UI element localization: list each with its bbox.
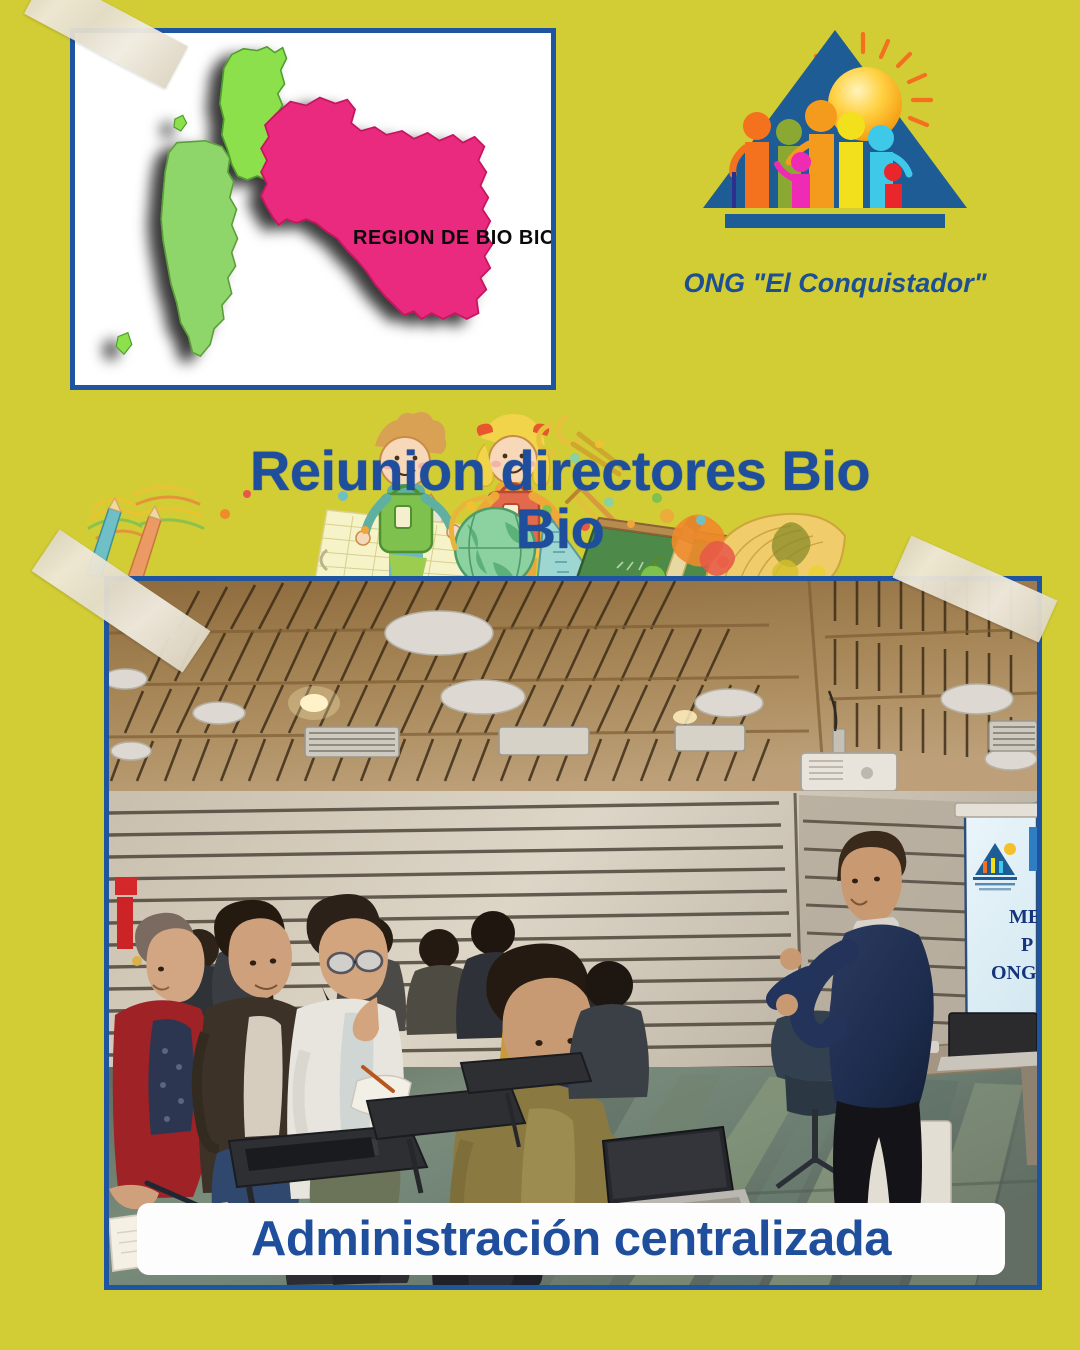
map-card: REGION DE BIO BIO — [70, 28, 556, 390]
laptop-screen — [949, 1013, 1037, 1059]
baseline-bar — [725, 214, 945, 228]
slide-line-2: P — [1021, 934, 1033, 956]
meeting-photograph: MEN P ONG EL — [109, 581, 1037, 1285]
page-title-line1: Reiunion directores Bio — [60, 442, 1060, 500]
caption-pill: Administración centralizada — [137, 1203, 1005, 1275]
logo-caption: ONG "El Conquistador" — [655, 268, 1015, 299]
ong-logo-icon — [685, 22, 985, 237]
logo-block: ONG "El Conquistador" — [655, 22, 1015, 287]
slide-line-3: ONG EL — [991, 962, 1037, 984]
presenter-hand — [780, 948, 802, 970]
slide-accent-bar — [1029, 827, 1037, 871]
photo-card: MEN P ONG EL — [104, 576, 1042, 1290]
slide-line-1: MEN — [1009, 906, 1037, 928]
earring-icon — [132, 956, 142, 966]
map-canvas — [75, 33, 551, 388]
map-region-label: REGION DE BIO BIO — [353, 227, 556, 250]
presenter-hand — [776, 994, 798, 1016]
caption-text: Administración centralizada — [251, 1211, 891, 1267]
